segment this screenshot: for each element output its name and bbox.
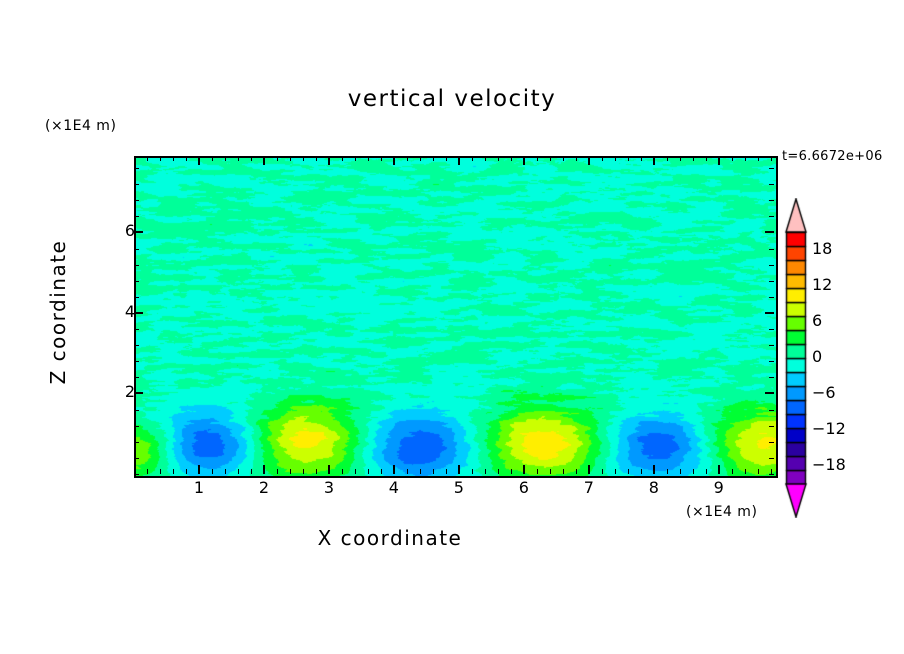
tick-mark — [563, 469, 564, 474]
tick-mark — [263, 465, 265, 474]
colorbar-gradient — [781, 198, 811, 518]
tick-mark — [769, 249, 774, 250]
tick-mark — [134, 474, 139, 475]
tick-mark — [765, 231, 774, 233]
tick-mark — [769, 168, 774, 169]
tick-mark — [769, 345, 774, 346]
tick-mark — [769, 442, 774, 443]
tick-mark — [303, 156, 304, 161]
tick-mark — [576, 469, 577, 474]
tick-mark — [251, 469, 252, 474]
tick-mark — [134, 312, 143, 314]
tick-mark — [355, 156, 356, 161]
tick-mark — [758, 156, 759, 161]
tick-mark — [769, 410, 774, 411]
tick-mark — [680, 156, 681, 161]
tick-mark — [718, 156, 720, 165]
tick-mark — [667, 156, 668, 161]
y-tick-label: 6 — [95, 221, 135, 240]
tick-mark — [718, 465, 720, 474]
tick-mark — [393, 156, 395, 165]
tick-mark — [588, 156, 590, 165]
x-tick-label: 8 — [634, 478, 674, 497]
tick-mark — [368, 469, 369, 474]
tick-mark — [303, 469, 304, 474]
x-tick-label: 5 — [439, 478, 479, 497]
tick-mark — [134, 458, 139, 459]
contour-plot-area — [134, 156, 778, 478]
tick-mark — [641, 156, 642, 161]
x-tick-label: 4 — [374, 478, 414, 497]
tick-mark — [745, 156, 746, 161]
tick-mark — [576, 156, 577, 161]
x-axis-title: X coordinate — [0, 526, 780, 550]
tick-mark — [485, 469, 486, 474]
tick-mark — [212, 469, 213, 474]
colorbar-tick-label: −12 — [812, 419, 846, 438]
tick-mark — [537, 156, 538, 161]
tick-mark — [251, 156, 252, 161]
tick-mark — [602, 469, 603, 474]
y-axis-title: Z coordinate — [46, 232, 70, 392]
tick-mark — [458, 156, 460, 165]
tick-mark — [498, 469, 499, 474]
tick-mark — [134, 392, 143, 394]
tick-mark — [433, 469, 434, 474]
tick-mark — [147, 156, 148, 161]
tick-mark — [615, 469, 616, 474]
tick-mark — [134, 184, 139, 185]
tick-mark — [769, 297, 774, 298]
tick-mark — [198, 156, 200, 165]
tick-mark — [134, 410, 139, 411]
tick-mark — [765, 312, 774, 314]
tick-mark — [769, 474, 774, 475]
tick-mark — [641, 469, 642, 474]
x-tick-label: 7 — [569, 478, 609, 497]
tick-mark — [537, 469, 538, 474]
tick-mark — [523, 156, 525, 165]
tick-mark — [198, 465, 200, 474]
tick-mark — [355, 469, 356, 474]
tick-mark — [134, 216, 139, 217]
tick-mark — [628, 156, 629, 161]
colorbar-tick-label: 6 — [812, 311, 822, 330]
tick-mark — [485, 156, 486, 161]
x-tick-label: 1 — [179, 478, 219, 497]
x-axis-unit-label: (×1E4 m) — [686, 504, 757, 520]
time-annotation: t=6.6672e+06 — [782, 149, 883, 164]
tick-mark — [602, 156, 603, 161]
tick-mark — [328, 156, 330, 165]
tick-mark — [316, 469, 317, 474]
tick-mark — [186, 469, 187, 474]
tick-mark — [277, 156, 278, 161]
tick-mark — [134, 442, 139, 443]
tick-mark — [706, 156, 707, 161]
x-tick-label: 3 — [309, 478, 349, 497]
tick-mark — [732, 156, 733, 161]
tick-mark — [342, 469, 343, 474]
colorbar-tick-label: 18 — [812, 239, 832, 258]
tick-mark — [472, 469, 473, 474]
tick-mark — [420, 469, 421, 474]
tick-mark — [667, 469, 668, 474]
x-tick-label: 6 — [504, 478, 544, 497]
tick-mark — [212, 156, 213, 161]
tick-mark — [523, 465, 525, 474]
colorbar-tick-label: −6 — [812, 383, 836, 402]
x-tick-label: 9 — [699, 478, 739, 497]
tick-mark — [693, 469, 694, 474]
colorbar-tick-label: 12 — [812, 275, 832, 294]
tick-mark — [446, 469, 447, 474]
tick-mark — [771, 156, 772, 161]
tick-mark — [238, 469, 239, 474]
tick-mark — [160, 469, 161, 474]
tick-mark — [290, 469, 291, 474]
tick-mark — [263, 156, 265, 165]
tick-mark — [550, 469, 551, 474]
tick-mark — [769, 184, 774, 185]
page-title: vertical velocity — [0, 86, 904, 112]
tick-mark — [588, 465, 590, 474]
tick-mark — [693, 156, 694, 161]
tick-mark — [134, 426, 139, 427]
tick-mark — [173, 469, 174, 474]
contour-field — [136, 158, 776, 476]
tick-mark — [769, 426, 774, 427]
colorbar-tick-label: −18 — [812, 455, 846, 474]
tick-mark — [328, 465, 330, 474]
tick-mark — [134, 361, 139, 362]
tick-mark — [134, 329, 139, 330]
tick-mark — [769, 216, 774, 217]
tick-mark — [225, 156, 226, 161]
tick-mark — [628, 469, 629, 474]
y-axis-unit-label: (×1E4 m) — [45, 118, 116, 134]
y-tick-label: 4 — [95, 302, 135, 321]
tick-mark — [381, 469, 382, 474]
tick-mark — [563, 156, 564, 161]
tick-mark — [732, 469, 733, 474]
tick-mark — [446, 156, 447, 161]
tick-mark — [769, 361, 774, 362]
tick-mark — [472, 156, 473, 161]
tick-mark — [393, 465, 395, 474]
tick-mark — [653, 156, 655, 165]
tick-mark — [290, 156, 291, 161]
tick-mark — [680, 469, 681, 474]
tick-mark — [420, 156, 421, 161]
tick-mark — [134, 231, 143, 233]
tick-mark — [745, 469, 746, 474]
tick-mark — [511, 469, 512, 474]
tick-mark — [134, 156, 135, 161]
tick-mark — [769, 377, 774, 378]
tick-mark — [134, 200, 139, 201]
tick-mark — [225, 469, 226, 474]
tick-mark — [407, 469, 408, 474]
tick-mark — [368, 156, 369, 161]
tick-mark — [160, 156, 161, 161]
tick-mark — [511, 156, 512, 161]
y-tick-label: 2 — [95, 382, 135, 401]
tick-mark — [173, 156, 174, 161]
tick-mark — [407, 156, 408, 161]
tick-mark — [342, 156, 343, 161]
tick-mark — [765, 392, 774, 394]
tick-mark — [758, 469, 759, 474]
tick-mark — [316, 156, 317, 161]
tick-mark — [238, 156, 239, 161]
tick-mark — [134, 377, 139, 378]
tick-mark — [134, 265, 139, 266]
tick-mark — [550, 156, 551, 161]
tick-mark — [653, 465, 655, 474]
tick-mark — [147, 469, 148, 474]
tick-mark — [769, 265, 774, 266]
tick-mark — [458, 465, 460, 474]
colorbar — [781, 198, 811, 518]
tick-mark — [498, 156, 499, 161]
tick-mark — [769, 329, 774, 330]
tick-mark — [277, 469, 278, 474]
colorbar-tick-label: 0 — [812, 347, 822, 366]
x-tick-label: 2 — [244, 478, 284, 497]
tick-mark — [769, 200, 774, 201]
tick-mark — [769, 281, 774, 282]
tick-mark — [769, 458, 774, 459]
tick-mark — [134, 297, 139, 298]
tick-mark — [134, 281, 139, 282]
tick-mark — [134, 249, 139, 250]
tick-mark — [134, 345, 139, 346]
tick-mark — [433, 156, 434, 161]
tick-mark — [186, 156, 187, 161]
tick-mark — [706, 469, 707, 474]
tick-mark — [381, 156, 382, 161]
tick-mark — [134, 168, 139, 169]
tick-mark — [615, 156, 616, 161]
